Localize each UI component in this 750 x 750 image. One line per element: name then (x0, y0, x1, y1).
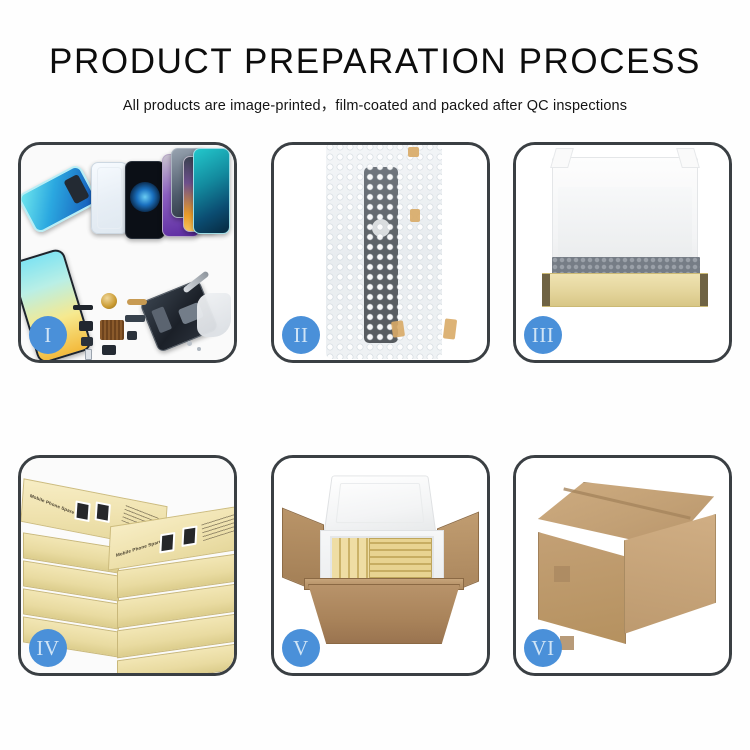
tape-strip-icon (391, 320, 405, 338)
step-badge-1: I (29, 316, 67, 354)
speaker-part-icon (102, 345, 116, 355)
tape-strip-icon (443, 318, 457, 339)
gold-ribbon-part-icon (127, 299, 147, 305)
carton-body-icon (308, 584, 460, 644)
process-step-card-5[interactable]: V (271, 455, 490, 676)
connector-part-icon (127, 331, 137, 340)
ribbon-cable-part-icon (125, 315, 145, 322)
page-title: PRODUCT PREPARATION PROCESS (0, 42, 750, 82)
camera-module-small-part-icon (81, 337, 93, 346)
step-badge-5: V (282, 629, 320, 667)
white-foam-sheet-icon (558, 187, 692, 257)
flex-cable-part-icon (73, 305, 93, 310)
process-step-grid: I II (18, 142, 732, 682)
header: PRODUCT PREPARATION PROCESS All products… (0, 0, 750, 115)
phone-teal-icon (193, 148, 230, 234)
camera-module-part-icon (79, 321, 93, 331)
screw-part-icon (187, 341, 192, 346)
logic-board-part-icon (100, 320, 124, 340)
tape-strip-icon (408, 147, 419, 157)
process-step-card-3[interactable]: III (513, 142, 732, 363)
carton-tape-patch-icon (560, 636, 574, 650)
bubble-texture (326, 145, 442, 359)
box-window-screen-icon (181, 525, 197, 547)
process-step-card-6[interactable]: VI (513, 455, 732, 676)
step-badge-6: VI (524, 629, 562, 667)
step-badge-4: IV (29, 629, 67, 667)
vibration-motor-part-icon (101, 293, 117, 309)
kraft-box-front-icon (542, 273, 708, 307)
styrofoam-lid-icon (324, 476, 437, 533)
process-step-card-2[interactable]: II (271, 142, 490, 363)
screw-small-part-icon (197, 347, 201, 351)
box-window-screen-icon (74, 500, 90, 522)
stacked-kraft-boxes-inside-icon (332, 538, 370, 578)
phone-lcd-dark-icon (125, 161, 165, 239)
carton-tape-patch-icon (554, 566, 570, 582)
product-preparation-infographic: PRODUCT PREPARATION PROCESS All products… (0, 0, 750, 750)
step-badge-2: II (282, 316, 320, 354)
technician-hand-icon (197, 293, 231, 337)
box-window-screen-icon (95, 501, 111, 523)
tempered-glass-icon (91, 162, 128, 234)
bubble-wrap-bag-icon (326, 145, 442, 359)
page-subtitle: All products are image-printed，film-coat… (0, 94, 750, 115)
sim-tray-part-icon (85, 349, 92, 360)
process-step-card-1[interactable]: I (18, 142, 237, 363)
box-spec-lines (201, 513, 234, 541)
box-window-screen-icon (159, 532, 175, 554)
step-badge-3: III (524, 316, 562, 354)
tape-strip-icon (410, 209, 420, 222)
process-step-card-4[interactable]: Mobile Phone Spare Parts Mobile Phone Sp… (18, 455, 237, 676)
